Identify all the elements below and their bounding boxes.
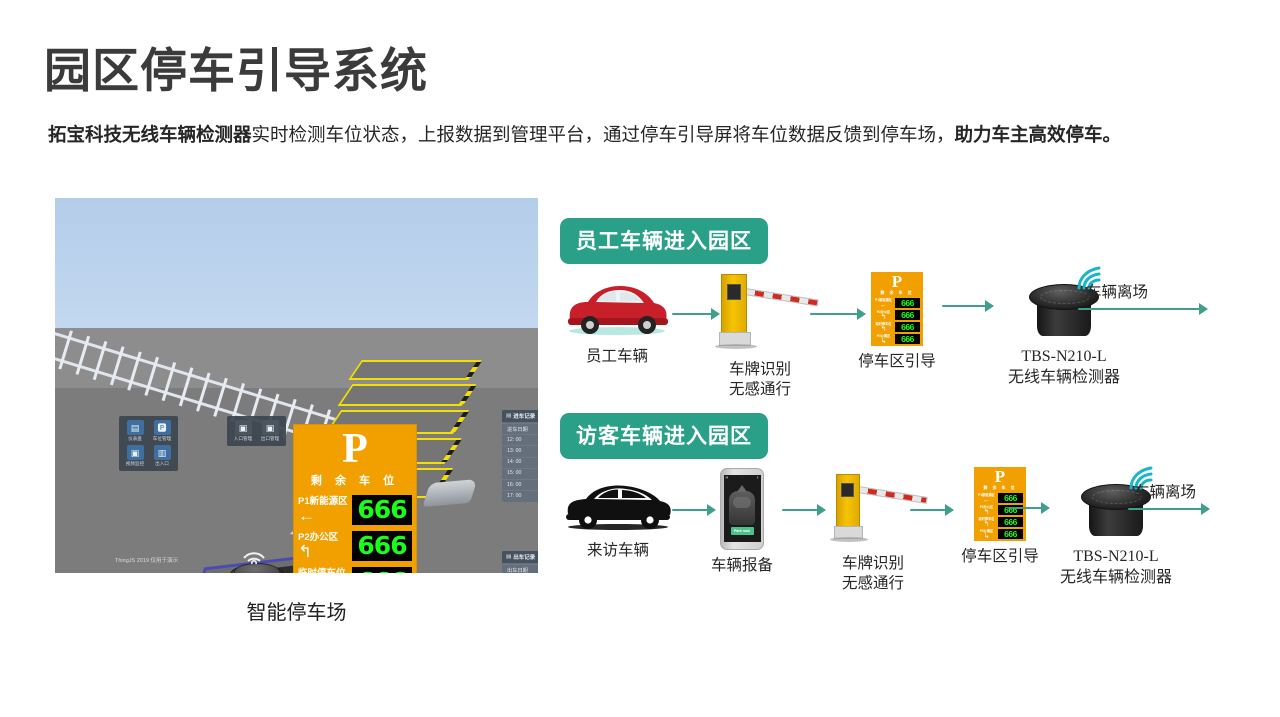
panel-title-group: ▤ 出车记录 bbox=[506, 553, 535, 561]
table-row: 12: 00苏A/00002 bbox=[502, 434, 538, 445]
mini-sign-row: P3公寓区↳ 666 bbox=[977, 528, 1023, 540]
phone-car-image bbox=[729, 491, 755, 525]
mini-sign-row: P3公寓区↳ 666 bbox=[874, 333, 920, 345]
gate-icon: ▥ bbox=[154, 445, 171, 460]
sign-row: 临时停车位 ↰ 666 bbox=[298, 564, 412, 573]
flow-node-visitor-car: 来访车辆 bbox=[562, 478, 674, 561]
dashboard-icon: ▤ bbox=[127, 420, 144, 435]
toolbar-button-parking[interactable]: 🅿 车位管理 bbox=[150, 420, 174, 442]
node-caption: TBS-N210-L 无线车辆检测器 bbox=[988, 346, 1140, 388]
wifi-signal-icon bbox=[435, 568, 463, 573]
gate-boom bbox=[744, 288, 818, 306]
gate-display bbox=[841, 483, 854, 497]
phone-icon[interactable]: ▮▮···▮ Park now bbox=[720, 468, 764, 550]
mini-sign-row: 临时停车位↰ 666 bbox=[874, 321, 920, 333]
scene-toolbar-primary[interactable]: ▤ 仪表盘 🅿 车位管理 ▣ 视频监控 ▥ 出入口 bbox=[119, 416, 178, 471]
table-row: 15: 00苏A/00005 bbox=[502, 468, 538, 479]
parking-lane bbox=[348, 360, 481, 380]
toolbar-button-entry[interactable]: ▣ 入口管理 bbox=[231, 420, 255, 442]
sign-direction-arrow-icon: ← bbox=[977, 497, 996, 504]
sign-row: P2办公区 ↰ 666 bbox=[298, 528, 412, 564]
parking-icon: 🅿 bbox=[154, 420, 171, 435]
parking-guidance-sign-icon: P 剩 余 车 位 P1新能源区← 666 P2办公区↰ 666 临时停车位↰ … bbox=[871, 272, 923, 346]
scene-sky bbox=[55, 198, 538, 330]
gate-display bbox=[727, 284, 741, 300]
sign-zone-name: 临时停车位 bbox=[298, 568, 352, 573]
mini-sign-row: 临时停车位↰ 666 bbox=[977, 516, 1023, 528]
list-icon: ▤ bbox=[506, 554, 511, 560]
gate-shadow bbox=[830, 537, 868, 542]
toolbar-label: 入口管理 bbox=[234, 436, 252, 442]
gate-boom bbox=[857, 486, 927, 504]
toolbar-button-exit[interactable]: ▣ 出口管理 bbox=[258, 420, 282, 442]
smart-parking-3d-scene: P 剩 余 车 位 P1新能源区 ← 666 P2办公区 ↰ 666 bbox=[55, 198, 538, 573]
scene-toolbar-secondary[interactable]: ▣ 入口管理 ▣ 出口管理 bbox=[227, 416, 286, 446]
flow-arrow-exit bbox=[1128, 503, 1210, 515]
toolbar-button-camera[interactable]: ▣ 视频监控 bbox=[123, 445, 147, 467]
panel-header: ▤ 进车记录 X bbox=[502, 410, 538, 422]
exit-icon: ▣ bbox=[262, 420, 279, 435]
list-icon: ▤ bbox=[506, 413, 511, 419]
gate-shadow bbox=[715, 344, 757, 349]
toolbar-button-gate[interactable]: ▥ 出入口 bbox=[150, 445, 174, 467]
table-row: 17: 00苏A/00007 bbox=[502, 490, 538, 501]
table-row: 16: 00苏A/00006 bbox=[502, 479, 538, 490]
panel-header: ▤ 出车记录 X bbox=[502, 551, 538, 563]
node-caption: 车牌识别 无感通行 bbox=[818, 554, 928, 595]
toolbar-label: 出入口 bbox=[155, 461, 169, 467]
table-row: 进车日期苏A/00001 bbox=[502, 423, 538, 434]
node-caption: 来访车辆 bbox=[562, 541, 674, 561]
exit-label-visitor: 车辆离场 bbox=[1134, 480, 1196, 502]
park-now-button[interactable]: Park now bbox=[731, 527, 754, 535]
node-caption: 停车区引导 bbox=[948, 547, 1052, 567]
flow-node-visitor-phone: ▮▮···▮ Park now 车辆报备 bbox=[706, 468, 778, 576]
red-car-icon bbox=[562, 278, 672, 341]
phone-screen: ▮▮···▮ Park now bbox=[724, 475, 761, 542]
parking-guidance-sign: P 剩 余 车 位 P1新能源区 ← 666 P2办公区 ↰ 666 bbox=[293, 424, 417, 573]
toolbar-button-dashboard[interactable]: ▤ 仪表盘 bbox=[123, 420, 147, 442]
table-row: 13: 00苏A/00003 bbox=[502, 445, 538, 456]
parking-lane bbox=[338, 384, 477, 406]
camera-icon: ▣ bbox=[127, 445, 144, 460]
sign-free-count: 666 bbox=[352, 495, 412, 525]
page-subtitle: 拓宝科技无线车辆检测器实时检测车位状态，上报数据到管理平台，通过停车引导屏将车位… bbox=[48, 120, 1178, 150]
table-row: 14: 00苏A/00004 bbox=[502, 457, 538, 468]
flow-badge-employee: 员工车辆进入园区 bbox=[560, 218, 768, 264]
node-caption: 车牌识别 无感通行 bbox=[700, 360, 820, 401]
entry-icon: ▣ bbox=[235, 420, 252, 435]
node-caption: 停车区引导 bbox=[845, 352, 949, 372]
sign-direction-arrow-icon: ↰ bbox=[874, 314, 893, 321]
black-car-icon bbox=[562, 478, 674, 535]
node-caption: TBS-N210-L 无线车辆检测器 bbox=[1040, 546, 1192, 588]
flow-arrow-exit bbox=[1078, 303, 1208, 315]
flow-node-employee-sign: P 剩 余 车 位 P1新能源区← 666 P2办公区↰ 666 临时停车位↰ … bbox=[845, 272, 949, 372]
entry-records-panel[interactable]: ▤ 进车记录 X 进车日期苏A/00001 12: 00苏A/00002 13:… bbox=[502, 410, 538, 502]
mini-sign-row: P2办公区↰ 666 bbox=[874, 309, 920, 321]
sign-direction-arrow-icon: ← bbox=[298, 507, 352, 524]
panel-title: 进车记录 bbox=[513, 412, 535, 420]
mini-sign-p: P bbox=[892, 273, 902, 290]
flow-arrow bbox=[942, 300, 994, 312]
sign-direction-arrow-icon: ↳ bbox=[977, 533, 996, 540]
node-caption: 员工车辆 bbox=[562, 347, 672, 367]
sign-remain-label: 剩 余 车 位 bbox=[311, 472, 399, 488]
toolbar-label: 出口管理 bbox=[261, 436, 279, 442]
scene-watermark: ThingJS 2019 仅用于演示 bbox=[115, 556, 178, 564]
phone-status-bar: ▮▮···▮ bbox=[724, 475, 761, 480]
wifi-signal-icon bbox=[241, 546, 267, 564]
node-caption: 车辆报备 bbox=[706, 556, 778, 576]
flow-node-employee-car: 员工车辆 bbox=[562, 278, 672, 367]
sign-direction-arrow-icon: ← bbox=[874, 302, 893, 309]
subtitle-normal: 实时检测车位状态，上报数据到管理平台，通过停车引导屏将车位数据反馈到停车场， bbox=[252, 124, 955, 145]
sign-direction-arrow-icon: ↰ bbox=[977, 509, 996, 516]
flow-node-employee-gate: 车牌识别 无感通行 bbox=[700, 262, 820, 401]
mini-sign-row: P1新能源区← 666 bbox=[874, 297, 920, 309]
panel-title-group: ▤ 进车记录 bbox=[506, 412, 535, 420]
page-title: 园区停车引导系统 bbox=[44, 44, 428, 98]
exit-label-employee: 车辆离场 bbox=[1086, 280, 1148, 302]
sign-direction-arrow-icon: ↰ bbox=[298, 543, 352, 560]
sign-p-letter: P bbox=[342, 428, 368, 470]
sign-free-count: 666 bbox=[352, 531, 412, 561]
toolbar-label: 仪表盘 bbox=[128, 436, 142, 442]
scene-caption: 智能停车场 bbox=[55, 596, 538, 625]
sign-free-count: 666 bbox=[352, 567, 412, 573]
panel-rows: 出车日期undefined 14: 00苏A/40004 15: 00苏A/50… bbox=[502, 563, 538, 573]
slide-root: 园区停车引导系统 拓宝科技无线车辆检测器实时检测车位状态，上报数据到管理平台，通… bbox=[0, 0, 1280, 717]
sign-rows: P1新能源区 ← 666 P2办公区 ↰ 666 临时停车位 ↰ bbox=[293, 488, 417, 573]
flow-badge-visitor: 访客车辆进入园区 bbox=[560, 413, 768, 459]
toolbar-label: 视频监控 bbox=[126, 461, 144, 467]
subtitle-bold-2: 助力车主高效停车。 bbox=[955, 124, 1122, 145]
sign-direction-arrow-icon: ↰ bbox=[977, 521, 996, 528]
sign-direction-arrow-icon: ↰ bbox=[874, 326, 893, 333]
sign-direction-arrow-icon: ↳ bbox=[874, 338, 893, 345]
flow-node-visitor-sign: P 剩 余 车 位 P1新能源区← 666 P2办公区↰ 666 临时停车位↰ … bbox=[948, 467, 1052, 567]
toolbar-label: 车位管理 bbox=[153, 436, 171, 442]
sign-row: P1新能源区 ← 666 bbox=[298, 492, 412, 528]
table-row: 出车日期undefined bbox=[502, 564, 538, 573]
barrier-gate-icon bbox=[701, 262, 819, 354]
subtitle-bold-1: 拓宝科技无线车辆检测器 bbox=[48, 124, 252, 145]
panel-rows: 进车日期苏A/00001 12: 00苏A/00002 13: 00苏A/000… bbox=[502, 422, 538, 502]
exit-records-panel[interactable]: ▤ 出车记录 X 出车日期undefined 14: 00苏A/40004 15… bbox=[502, 551, 538, 573]
mini-sign-p: P bbox=[995, 468, 1005, 485]
flow-node-visitor-gate: 车牌识别 无感通行 bbox=[818, 462, 928, 595]
panel-title: 出车记录 bbox=[513, 553, 535, 561]
